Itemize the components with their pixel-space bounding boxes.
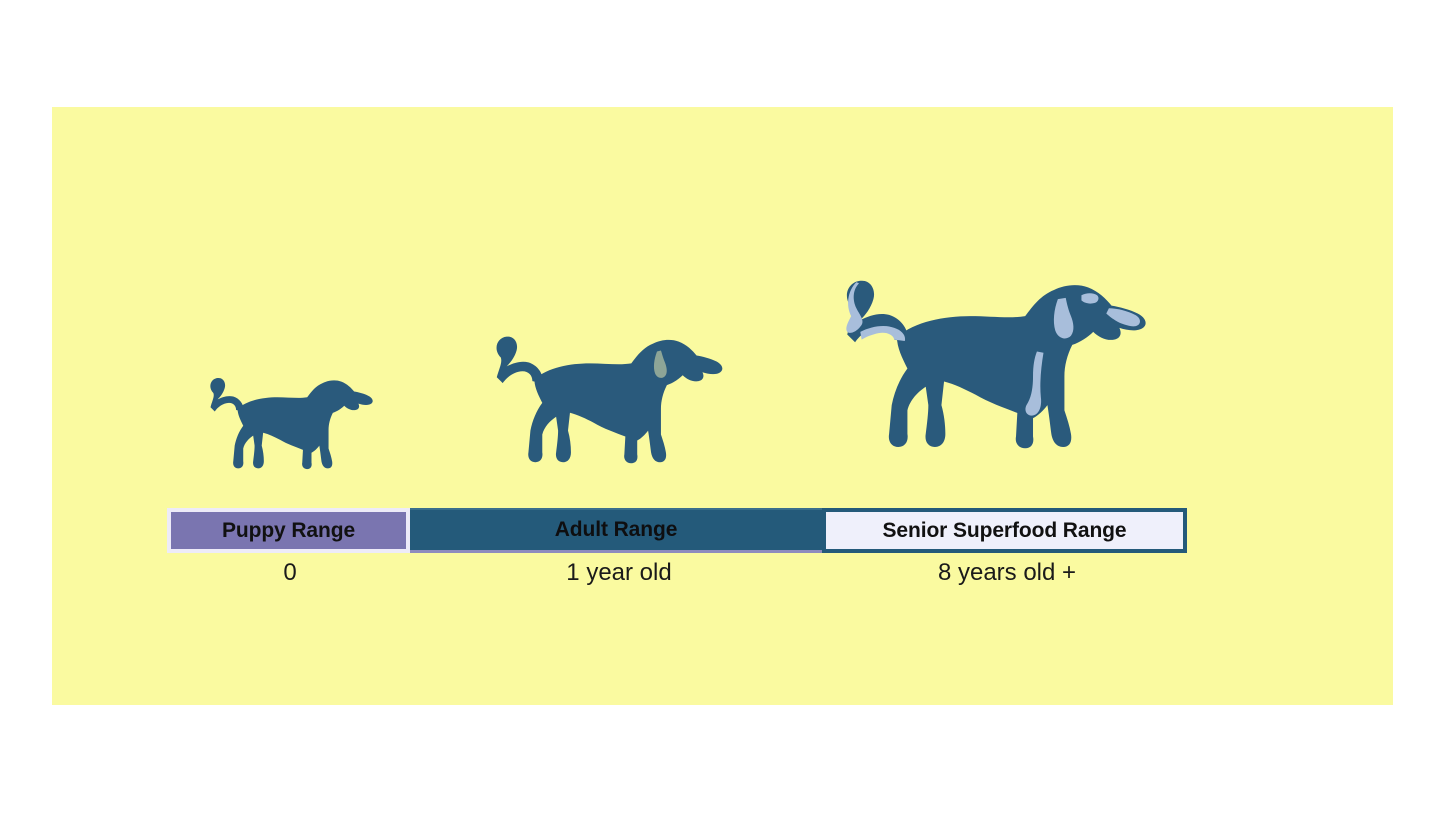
- infographic-panel: Puppy Range Adult Range Senior Superfood…: [52, 107, 1393, 705]
- range-segment-adult[interactable]: Adult Range: [410, 508, 822, 553]
- senior-dog-eye-highlight: [1081, 293, 1098, 303]
- puppy-dog-illustration: [207, 356, 379, 484]
- dog-illustration-row: [52, 107, 1393, 507]
- range-segment-senior[interactable]: Senior Superfood Range: [822, 508, 1187, 553]
- range-segment-adult-label: Adult Range: [555, 518, 678, 542]
- range-segment-senior-label: Senior Superfood Range: [883, 519, 1127, 543]
- age-range-bar: Puppy Range Adult Range Senior Superfood…: [167, 508, 1187, 553]
- age-label-adult: 1 year old: [566, 559, 671, 587]
- age-label-row: 0 1 year old 8 years old +: [167, 559, 1187, 599]
- age-label-senior: 8 years old +: [938, 559, 1076, 587]
- adult-dog-illustration: [492, 306, 731, 484]
- senior-dog-illustration: [842, 232, 1156, 484]
- range-segment-puppy[interactable]: Puppy Range: [167, 508, 410, 553]
- age-label-start: 0: [283, 559, 296, 587]
- range-segment-puppy-label: Puppy Range: [222, 519, 355, 543]
